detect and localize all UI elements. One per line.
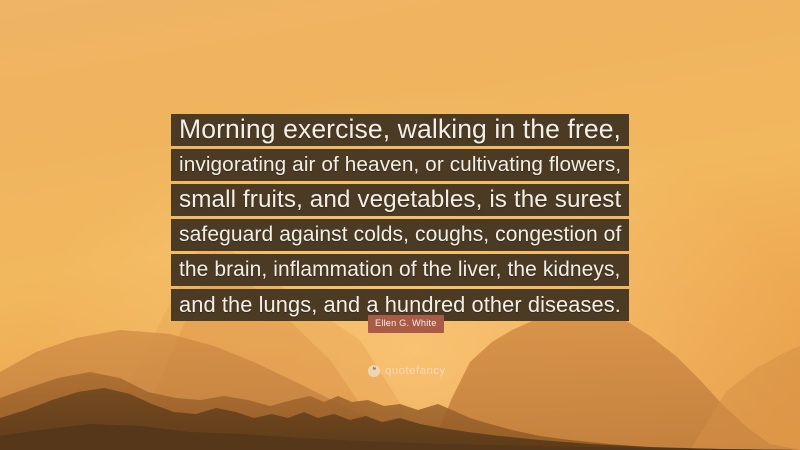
watermark-brand-label: quotefancy [385,365,446,377]
quote-poster: Morning exercise, walking in the free, i… [0,0,800,450]
quote-line: safeguard against colds, coughs, congest… [171,219,629,251]
quote-mark-glyph: ❝ [372,367,375,374]
quote-mark-icon: ❝ [368,365,380,377]
author-badge: Ellen G. White [368,315,444,333]
quote-line: Morning exercise, walking in the free, [171,114,629,146]
quote-line: invigorating air of heaven, or cultivati… [171,149,629,181]
quotefancy-watermark: ❝ quotefancy [368,365,446,377]
quote-line: small fruits, and vegetables, is the sur… [171,184,629,216]
quote-line: the brain, inflammation of the liver, th… [171,254,629,286]
quote-text-block: Morning exercise, walking in the free, i… [171,114,629,324]
